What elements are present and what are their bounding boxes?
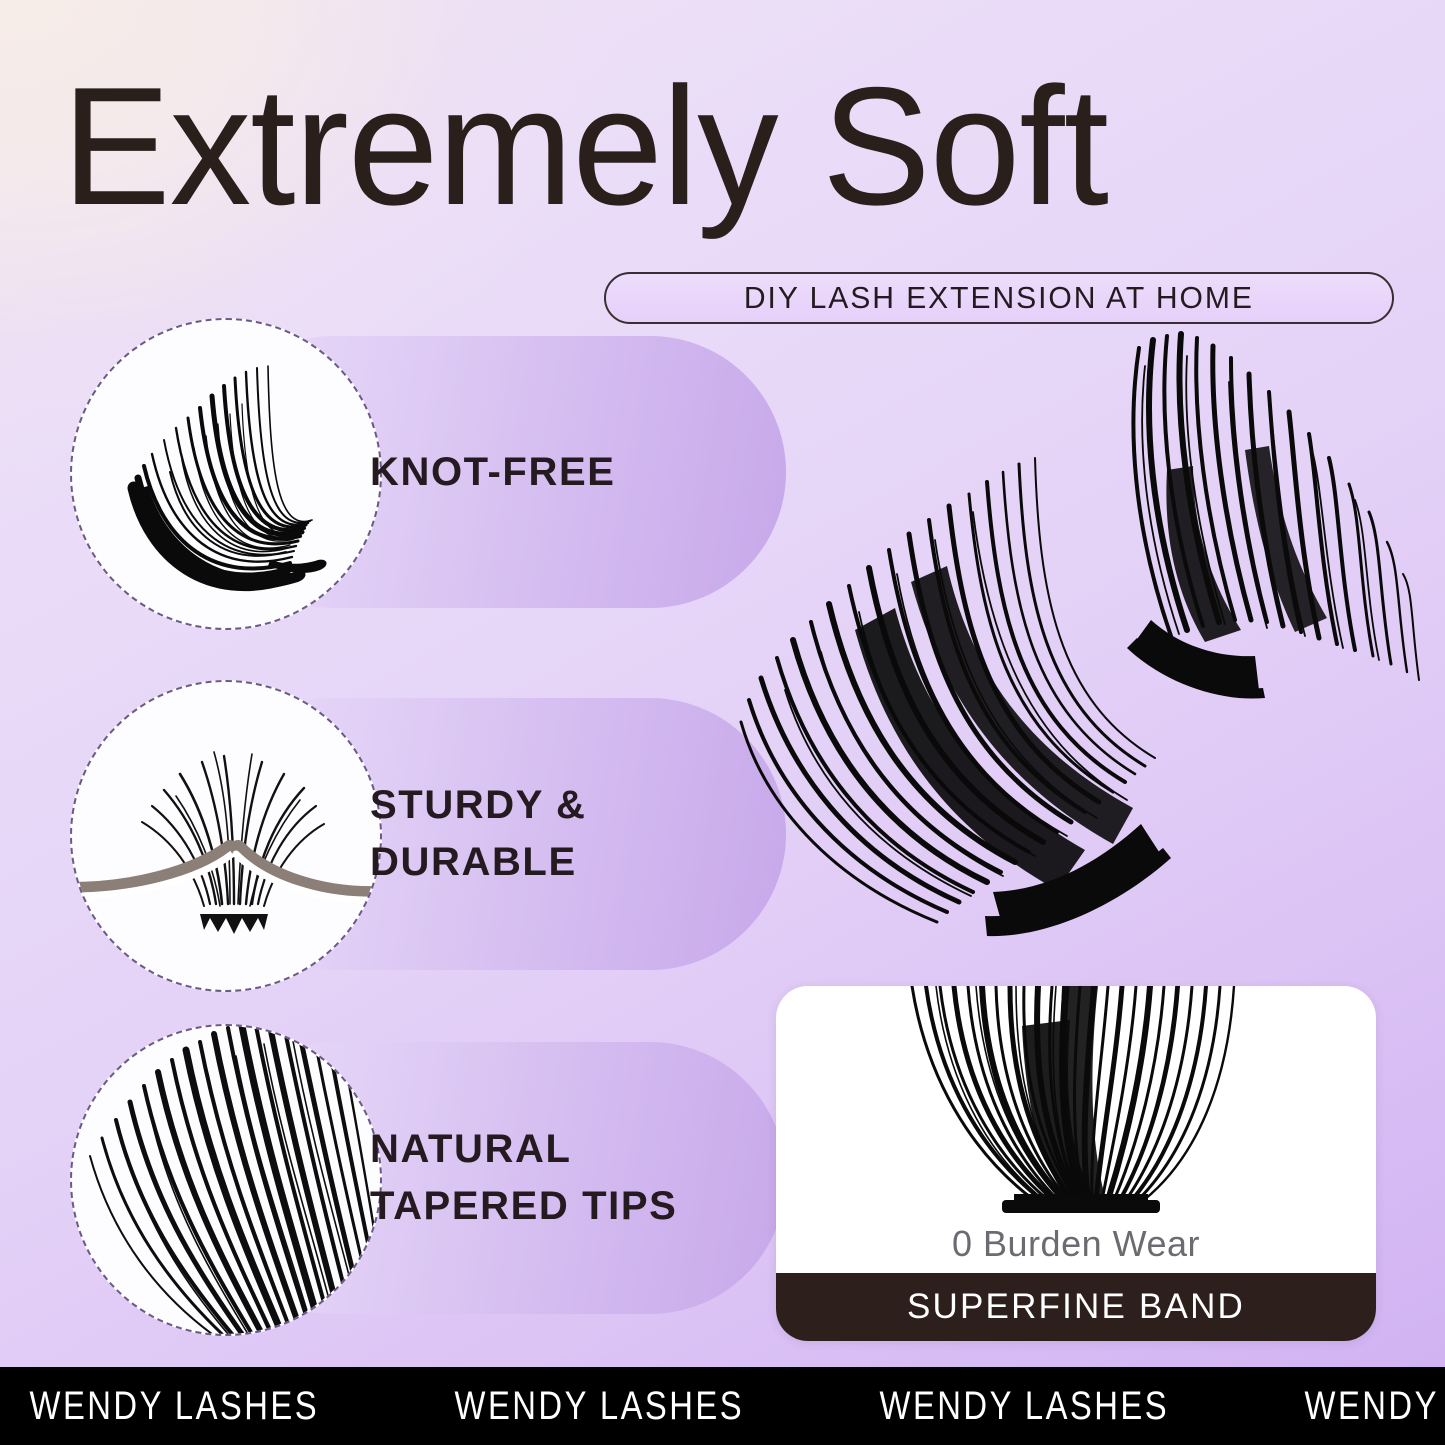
two-lash-cluster-segments-icon <box>735 330 1425 955</box>
tweezers-holding-lash-cluster-icon <box>72 682 380 990</box>
feature-image-tapered-tips <box>70 1024 382 1336</box>
feature-image-knot-free <box>70 318 382 630</box>
feature-label-knot-free: KNOT-FREE <box>370 318 700 626</box>
feature-label-tapered-tips: NATURAL TAPERED TIPS <box>370 1024 700 1332</box>
band-card-image <box>776 986 1376 1224</box>
lash-fan-on-superfine-band-icon <box>776 986 1376 1224</box>
knot-free-lash-cluster-icon <box>72 320 380 628</box>
band-card-footer: SUPERFINE BAND <box>776 1273 1376 1341</box>
hero-lash-image <box>735 330 1425 955</box>
brand-name: WENDY LASHES <box>850 1384 1199 1429</box>
brand-strip: WENDY LASHES WENDY LASHES WENDY LASHES W… <box>0 1367 1445 1445</box>
brand-name: WENDY LASHES <box>425 1384 774 1429</box>
feature-label-line1: KNOT-FREE <box>370 444 700 501</box>
feature-label-line1: NATURAL <box>370 1121 700 1178</box>
brand-name: WENDY LASHES <box>0 1384 349 1429</box>
band-card-caption: 0 Burden Wear <box>776 1214 1376 1274</box>
brand-name: WENDY LASHES <box>1275 1384 1445 1429</box>
feature-label-sturdy-durable: STURDY & DURABLE <box>370 680 700 988</box>
feature-label-line2: TAPERED TIPS <box>370 1178 700 1235</box>
superfine-band-card: 0 Burden Wear SUPERFINE BAND <box>776 986 1376 1341</box>
feature-image-sturdy-durable <box>70 680 382 992</box>
product-feature-poster: Extremely Soft DIY LASH EXTENSION AT HOM… <box>0 0 1445 1445</box>
subtitle-text: DIY LASH EXTENSION AT HOME <box>744 280 1254 316</box>
subtitle-pill: DIY LASH EXTENSION AT HOME <box>604 272 1394 324</box>
feature-label-line1: STURDY & <box>370 777 700 834</box>
page-title: Extremely Soft <box>62 62 1362 230</box>
tapered-lash-fibers-macro-icon <box>72 1026 380 1334</box>
band-card-footer-label: SUPERFINE BAND <box>907 1287 1245 1327</box>
feature-label-line2: DURABLE <box>370 834 700 891</box>
